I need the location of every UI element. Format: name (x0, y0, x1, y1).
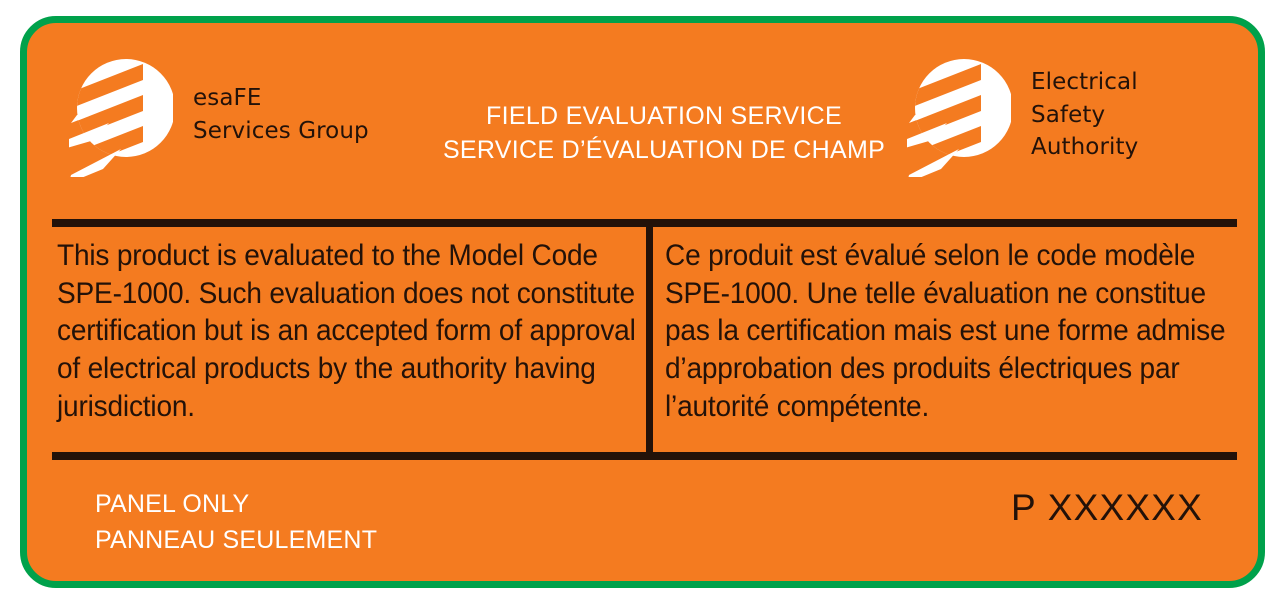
divider-bottom (52, 452, 1237, 460)
divider-vertical (646, 227, 653, 452)
scope-french: PANNEAU SEULEMENT (95, 522, 377, 558)
label-header: esaFE Services Group FIELD EVALUATION SE… (27, 23, 1258, 213)
serial-number: P XXXXXX (1011, 487, 1203, 529)
scope-english: PANEL ONLY (95, 486, 377, 522)
esa-swoosh-logo (69, 53, 173, 177)
brand-right-line1: Electrical (1031, 66, 1138, 99)
scope-block: PANEL ONLY PANNEAU SEULEMENT (95, 486, 377, 559)
evaluation-statement-french: Ce produit est évalué selon le code modè… (665, 237, 1235, 425)
esa-swoosh-logo (907, 53, 1011, 177)
brand-electrical-safety-authority: Electrical Safety Authority (907, 53, 1138, 177)
brand-left-line2: Services Group (193, 115, 369, 148)
evaluation-statement-english: This product is evaluated to the Model C… (57, 237, 637, 425)
brand-left-line1: esaFE (193, 82, 369, 115)
brand-esafe-services-group: esaFE Services Group (69, 53, 369, 177)
service-title-fr: SERVICE D’ÉVALUATION DE CHAMP (419, 133, 909, 167)
brand-left-text: esaFE Services Group (193, 82, 369, 147)
brand-right-text: Electrical Safety Authority (1031, 66, 1138, 164)
field-evaluation-label-card: esaFE Services Group FIELD EVALUATION SE… (20, 16, 1265, 588)
brand-right-line2: Safety (1031, 99, 1138, 132)
divider-top (52, 219, 1237, 227)
brand-right-line3: Authority (1031, 131, 1138, 164)
service-title-block: FIELD EVALUATION SERVICE SERVICE D’ÉVALU… (419, 99, 909, 167)
service-title-en: FIELD EVALUATION SERVICE (419, 99, 909, 133)
